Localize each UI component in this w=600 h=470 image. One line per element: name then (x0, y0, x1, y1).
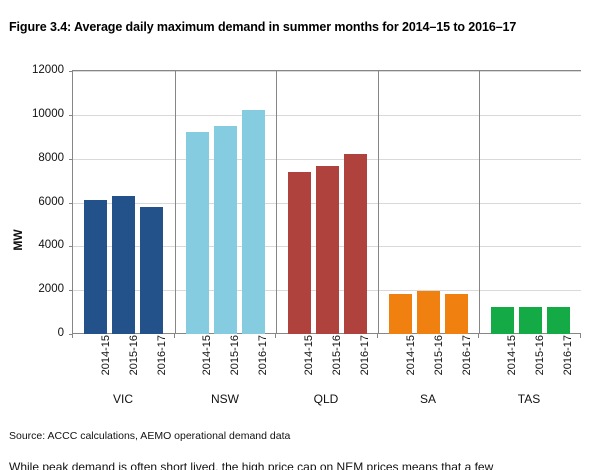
bar-QLD-2014-15 (288, 172, 311, 334)
y-axis-label: 8000 (4, 152, 64, 164)
x-tick-mark (478, 334, 479, 338)
y-tick-mark (69, 159, 73, 160)
y-tick-mark (69, 115, 73, 116)
y-tick-mark (69, 203, 73, 204)
y-axis-label: 4000 (4, 239, 64, 251)
x-axis-group-label-TAS: TAS (478, 392, 580, 406)
y-axis-label: 0 (4, 327, 64, 339)
x-axis-group-label-VIC: VIC (72, 392, 174, 406)
y-tick-mark (69, 290, 73, 291)
bar-TAS-2015-16 (519, 307, 542, 334)
group-separator-SA (378, 71, 379, 334)
bar-NSW-2014-15 (186, 132, 209, 334)
x-axis-group-label-QLD: QLD (275, 392, 377, 406)
y-tick-mark (69, 71, 73, 72)
bar-TAS-2016-17 (547, 307, 570, 334)
bar-TAS-2014-15 (491, 307, 514, 334)
bar-QLD-2016-17 (344, 154, 367, 334)
bar-VIC-2015-16 (112, 196, 135, 334)
bar-SA-2014-15 (389, 294, 412, 334)
bar-SA-2015-16 (417, 291, 440, 334)
bar-QLD-2015-16 (316, 166, 339, 334)
bar-NSW-2015-16 (214, 126, 237, 334)
group-separator-NSW (175, 71, 176, 334)
y-tick-mark (69, 246, 73, 247)
gridline-12000 (73, 71, 581, 72)
bar-VIC-2014-15 (84, 200, 107, 334)
y-axis-label: 2000 (4, 283, 64, 295)
bar-SA-2016-17 (445, 294, 468, 334)
gridline-8000 (73, 159, 581, 160)
gridline-10000 (73, 115, 581, 116)
group-separator-QLD (276, 71, 277, 334)
page-title: Figure 3.4: Average daily maximum demand… (9, 20, 589, 34)
bar-NSW-2016-17 (242, 110, 265, 334)
x-axis: 2014-152015-162016-17VIC2014-152015-1620… (72, 334, 580, 410)
y-axis-label: 10000 (4, 108, 64, 120)
x-tick-mark (580, 334, 581, 338)
bar-VIC-2016-17 (140, 207, 163, 334)
x-tick-mark (72, 334, 73, 338)
group-separator-TAS (479, 71, 480, 334)
y-axis-label: 12000 (4, 64, 64, 76)
body-paragraph-clipped: While peak demand is often short lived, … (9, 460, 594, 470)
x-tick-mark (174, 334, 175, 338)
x-tick-mark (275, 334, 276, 338)
plot-inner (73, 71, 581, 334)
source-note: Source: ACCC calculations, AEMO operatio… (9, 430, 290, 442)
chart-canvas: MW 020004000600080001000012000 2014-1520… (0, 55, 600, 410)
plot-area (72, 70, 581, 334)
x-axis-group-label-SA: SA (377, 392, 479, 406)
x-axis-group-label-NSW: NSW (174, 392, 276, 406)
x-tick-mark (377, 334, 378, 338)
y-axis-label: 6000 (4, 196, 64, 208)
